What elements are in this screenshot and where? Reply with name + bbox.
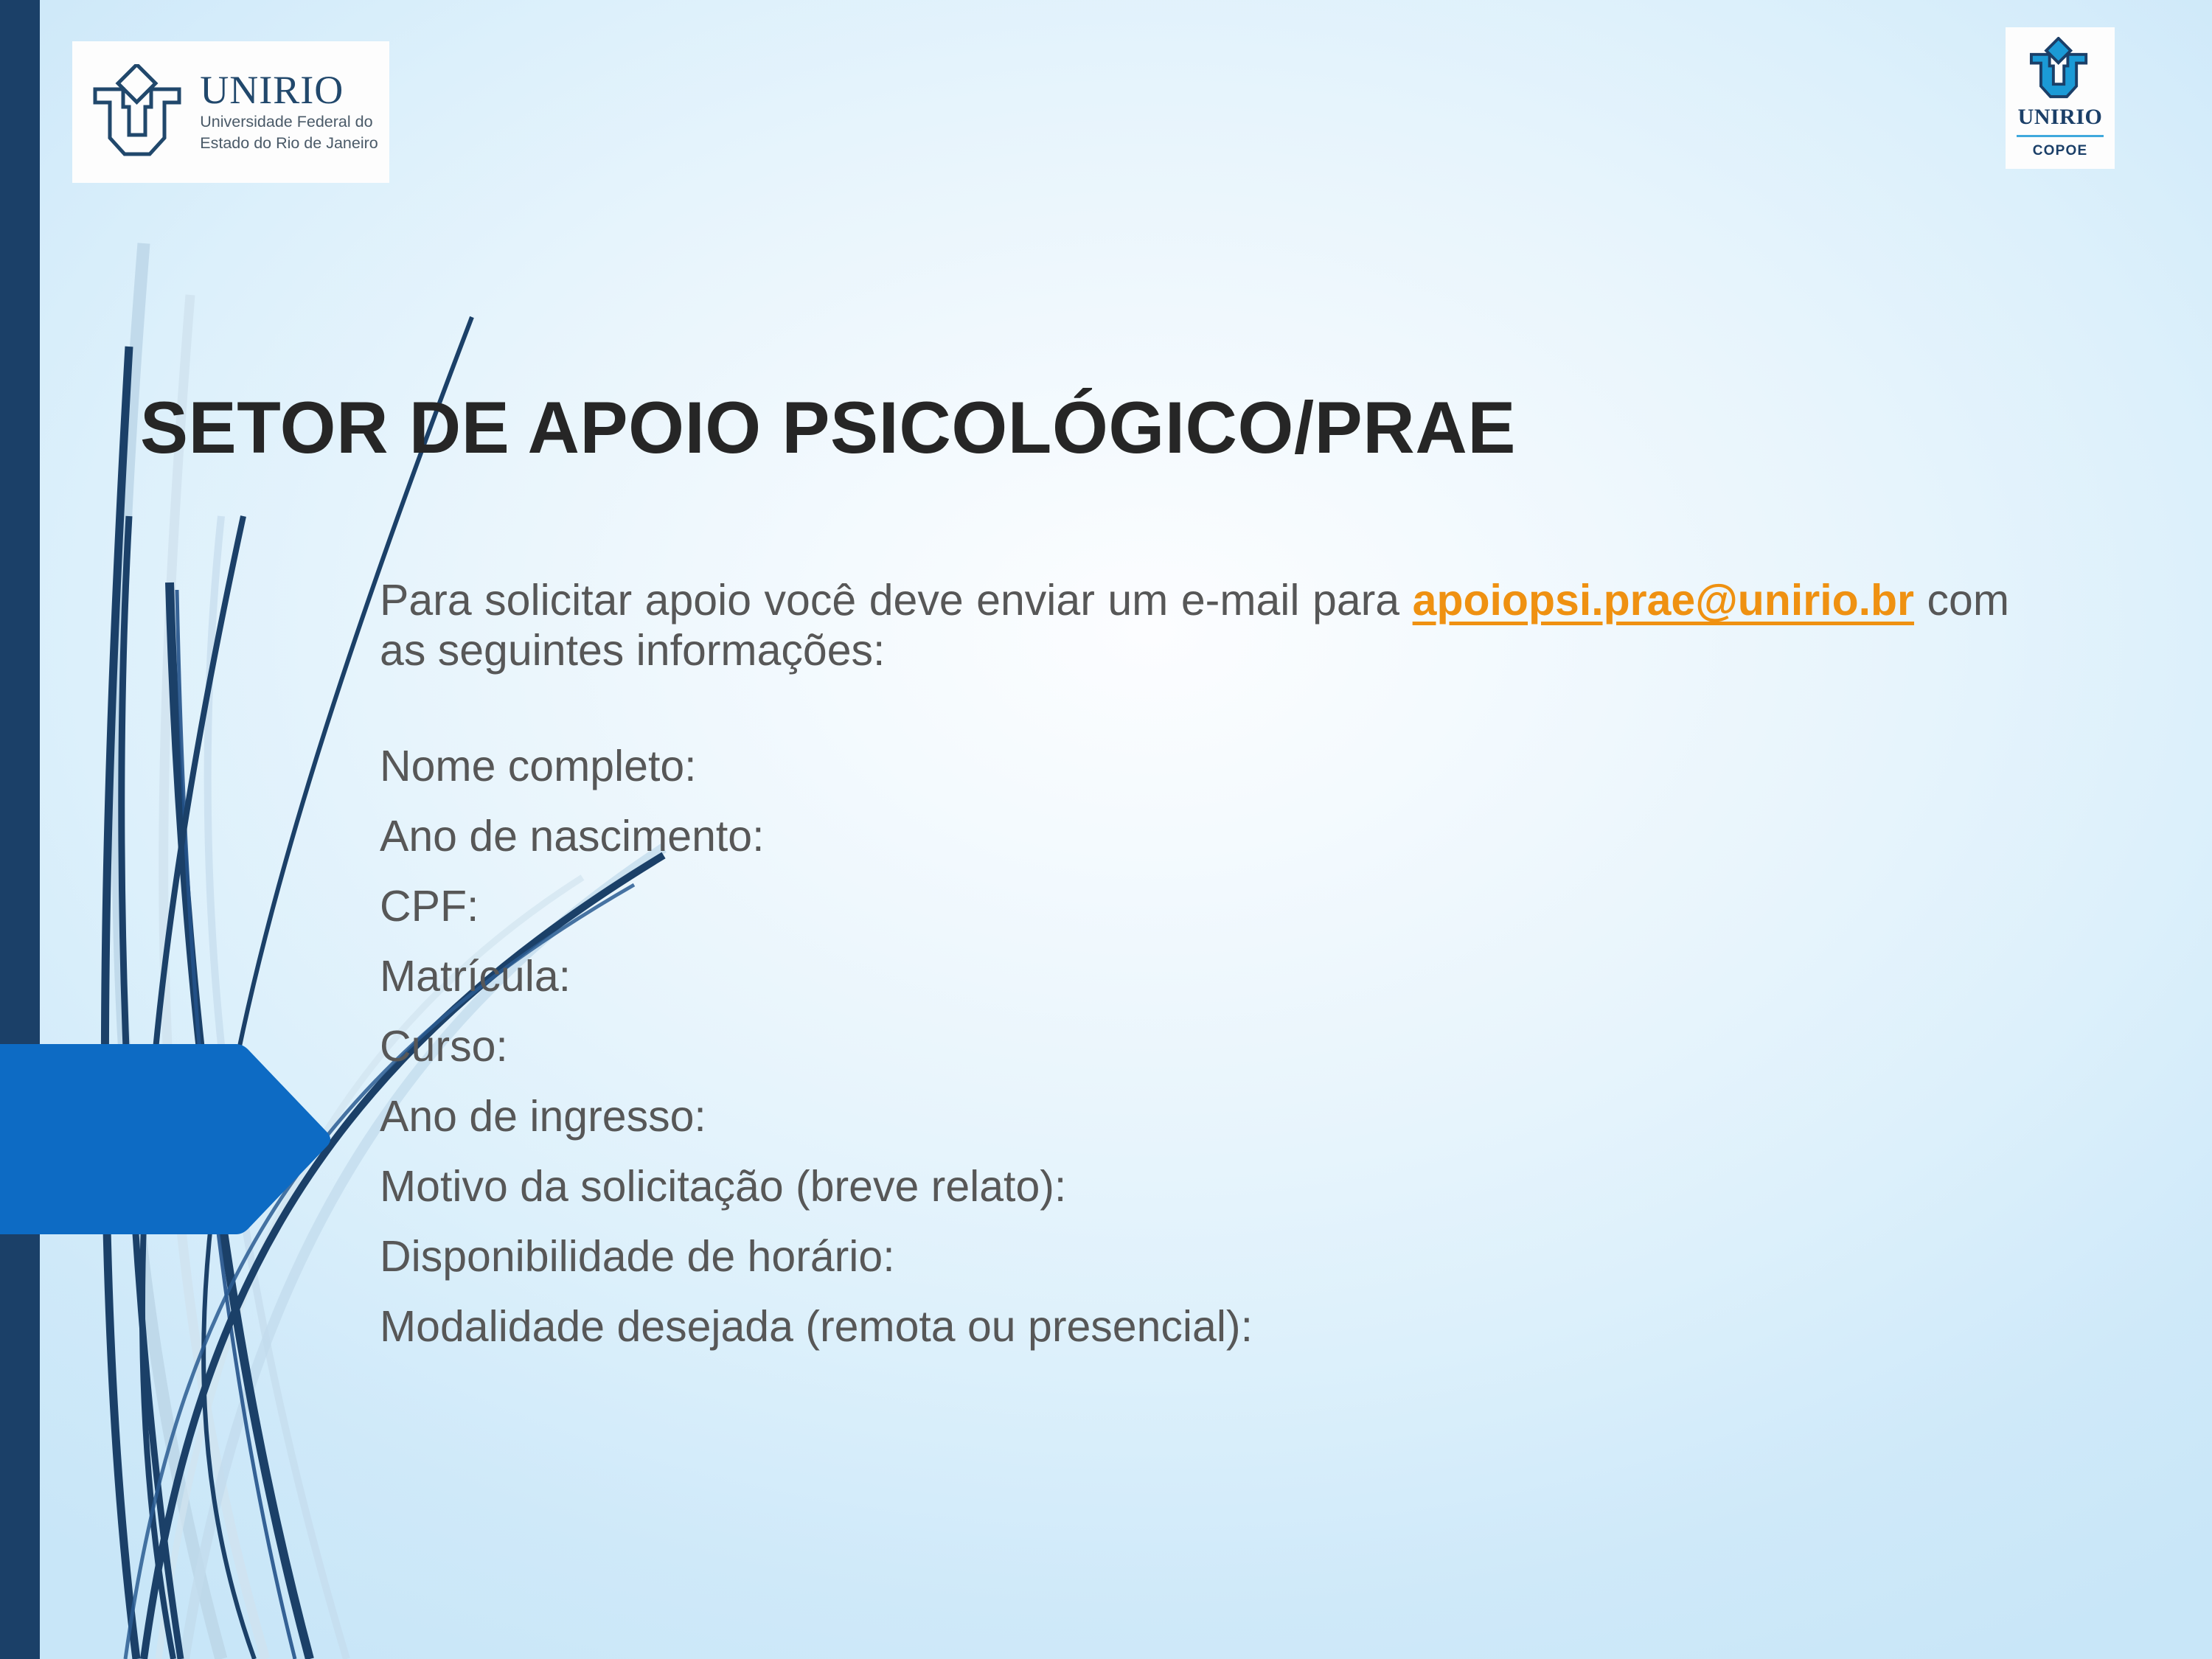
copoe-divider xyxy=(2017,135,2104,137)
field-list-item: Disponibilidade de horário: xyxy=(380,1235,2009,1279)
field-list-item: CPF: xyxy=(380,885,2009,928)
requested-fields-list: Nome completo:Ano de nascimento:CPF:Matr… xyxy=(380,745,2009,1349)
copoe-unirio-mark-icon xyxy=(2028,37,2092,102)
unirio-logo-box: UNIRIO Universidade Federal do Estado do… xyxy=(72,41,389,183)
copoe-logo-box: UNIRIO COPOE xyxy=(2006,27,2115,169)
unirio-logo-word: UNIRIO xyxy=(200,71,378,110)
unirio-mark-icon xyxy=(91,64,188,160)
page-title: SETOR DE APOIO PSICOLÓGICO/PRAE xyxy=(140,386,2101,470)
copoe-logo-label: COPOE xyxy=(2033,143,2088,159)
intro-text-before: Para solicitar apoio você deve enviar um… xyxy=(380,576,1413,625)
left-accent-band xyxy=(0,0,40,1659)
blue-arrow-accent xyxy=(0,1044,332,1234)
field-list-item: Ano de ingresso: xyxy=(380,1095,2009,1138)
field-list-item: Modalidade desejada (remota ou presencia… xyxy=(380,1305,2009,1349)
email-link[interactable]: apoiopsi.prae@unirio.br xyxy=(1413,576,1914,625)
field-list-item: Curso: xyxy=(380,1025,2009,1068)
field-list-item: Motivo da solicitação (breve relato): xyxy=(380,1165,2009,1208)
slide-body: Para solicitar apoio você deve enviar um… xyxy=(380,575,2009,1375)
intro-paragraph: Para solicitar apoio você deve enviar um… xyxy=(380,575,2009,676)
field-list-item: Nome completo: xyxy=(380,745,2009,788)
field-list-item: Ano de nascimento: xyxy=(380,815,2009,858)
unirio-logo-subtitle-line1: Universidade Federal do xyxy=(200,113,378,131)
unirio-logo-subtitle-line2: Estado do Rio de Janeiro xyxy=(200,134,378,153)
copoe-logo-word: UNIRIO xyxy=(2018,106,2103,128)
field-list-item: Matrícula: xyxy=(380,955,2009,998)
slide-canvas: UNIRIO Universidade Federal do Estado do… xyxy=(0,0,2212,1659)
